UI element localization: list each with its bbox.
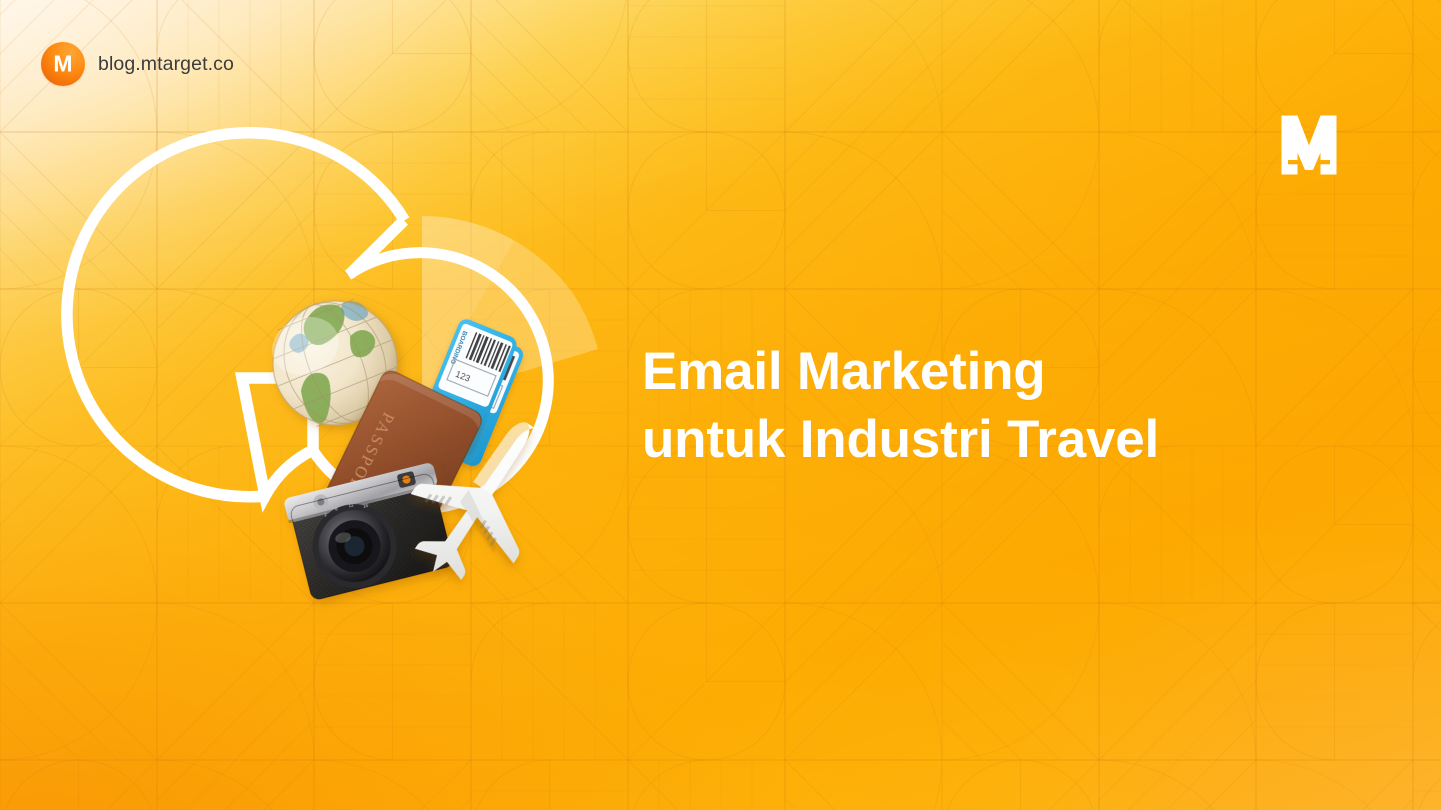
banner-canvas: M blog.mtarget.co Email Marketing untuk … — [0, 0, 1441, 810]
brand-header[interactable]: M blog.mtarget.co — [41, 42, 234, 86]
site-url-label: blog.mtarget.co — [98, 53, 234, 76]
mtarget-m-mark — [1280, 114, 1338, 176]
title-line-1: Email Marketing — [642, 338, 1159, 406]
title-line-2: untuk Industri Travel — [642, 406, 1159, 474]
vintage-camera-icon: 28 1116 — [283, 462, 458, 602]
page-title: Email Marketing untuk Industri Travel — [642, 338, 1159, 474]
logo-letter: M — [53, 52, 72, 75]
travel-collage-illustration: 123 Air Ticket BOARDING 123 Air Ticket — [218, 198, 628, 608]
mtarget-circle-m-logo: M — [41, 42, 85, 86]
